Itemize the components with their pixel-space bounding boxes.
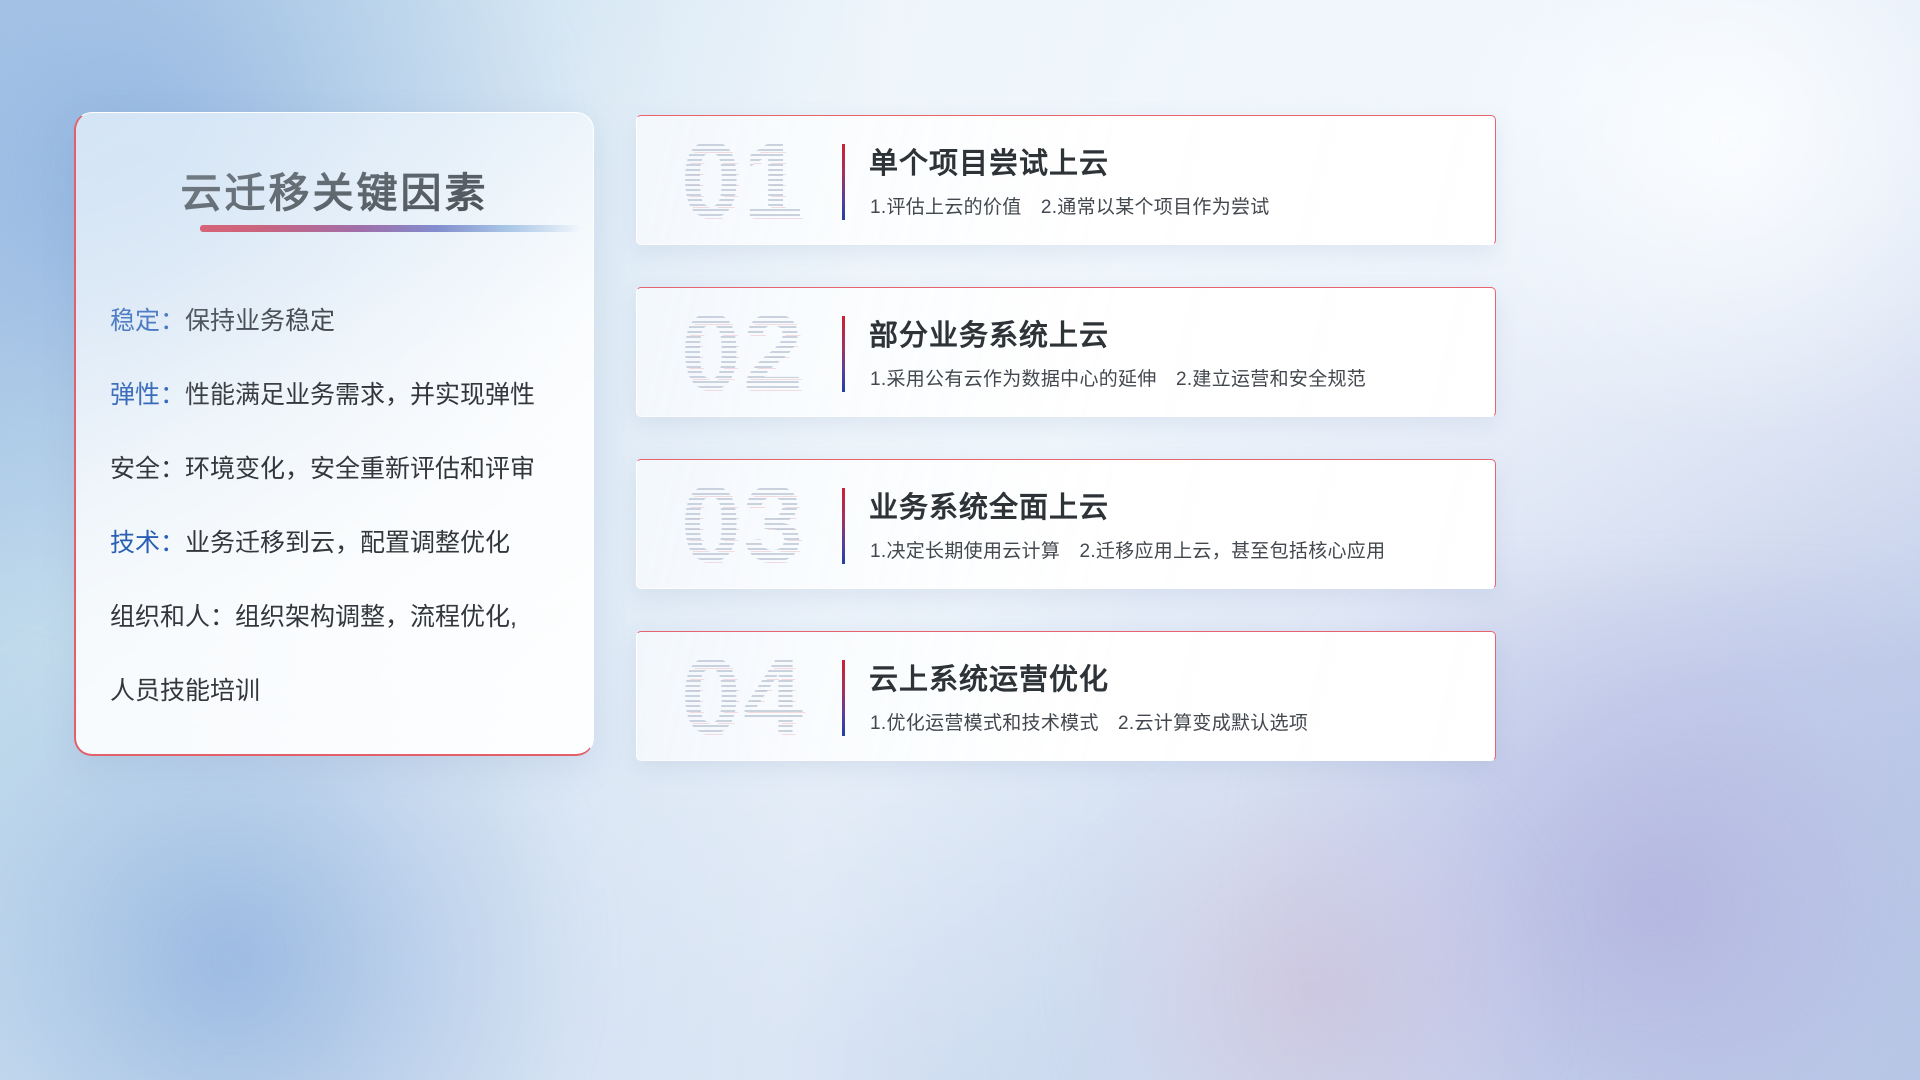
step-divider-bar [842,316,845,392]
step-title: 云上系统运营优化 [869,656,1109,698]
step-title: 单个项目尝试上云 [869,140,1109,182]
factor-label: 弹性： [110,381,185,409]
step-divider-bar [842,488,845,564]
step-number: 01 [663,115,823,245]
factor-text: 保持业务稳定 [185,307,335,335]
factor-text: 业务迁移到云，配置调整优化 [185,529,510,557]
title-underline [200,225,582,232]
list-item: 人员技能培训 [110,679,567,704]
list-item: 稳定：保持业务稳定 [110,309,567,334]
step-description: 1.采用公有云作为数据中心的延伸 2.建立运营和安全规范 [870,364,1366,391]
list-item: 安全：环境变化，安全重新评估和评审 [110,457,567,482]
step-card-03[interactable]: 03 03 业务系统全面上云 1.决定长期使用云计算 2.迁移应用上云，甚至包括… [636,459,1496,589]
step-number: 03 [663,459,823,589]
page-title: 云迁移关键因素 [76,159,593,219]
factor-label: 技术： [110,529,185,557]
factor-text: 人员技能培训 [110,677,260,705]
step-card-02[interactable]: 02 02 部分业务系统上云 1.采用公有云作为数据中心的延伸 2.建立运营和安… [636,287,1496,417]
factor-label: 安全： [110,455,185,483]
factor-text: 性能满足业务需求，并实现弹性 [185,381,535,409]
step-description: 1.评估上云的价值 2.通常以某个项目作为尝试 [870,192,1270,219]
key-factors-card: 云迁移关键因素 稳定：保持业务稳定 弹性：性能满足业务需求，并实现弹性 安全：环… [74,112,594,756]
factor-label: 组织和人： [110,603,235,631]
step-title: 业务系统全面上云 [869,484,1109,526]
step-title: 部分业务系统上云 [869,312,1109,354]
factor-text: 环境变化，安全重新评估和评审 [185,455,535,483]
list-item: 弹性：性能满足业务需求，并实现弹性 [110,383,567,408]
step-divider-bar [842,660,845,736]
step-card-01[interactable]: 01 01 单个项目尝试上云 1.评估上云的价值 2.通常以某个项目作为尝试 [636,115,1496,245]
factor-label: 稳定： [110,307,185,335]
list-item: 组织和人：组织架构调整，流程优化, [110,605,567,630]
step-divider-bar [842,144,845,220]
key-factors-list: 稳定：保持业务稳定 弹性：性能满足业务需求，并实现弹性 安全：环境变化，安全重新… [110,309,567,704]
step-number: 02 [663,287,823,417]
factor-text: 组织架构调整，流程优化, [235,603,517,631]
step-description: 1.优化运营模式和技术模式 2.云计算变成默认选项 [870,708,1308,735]
step-card-04[interactable]: 04 04 云上系统运营优化 1.优化运营模式和技术模式 2.云计算变成默认选项 [636,631,1496,761]
step-number: 04 [663,631,823,761]
step-description: 1.决定长期使用云计算 2.迁移应用上云，甚至包括核心应用 [870,536,1385,563]
list-item: 技术：业务迁移到云，配置调整优化 [110,531,567,556]
